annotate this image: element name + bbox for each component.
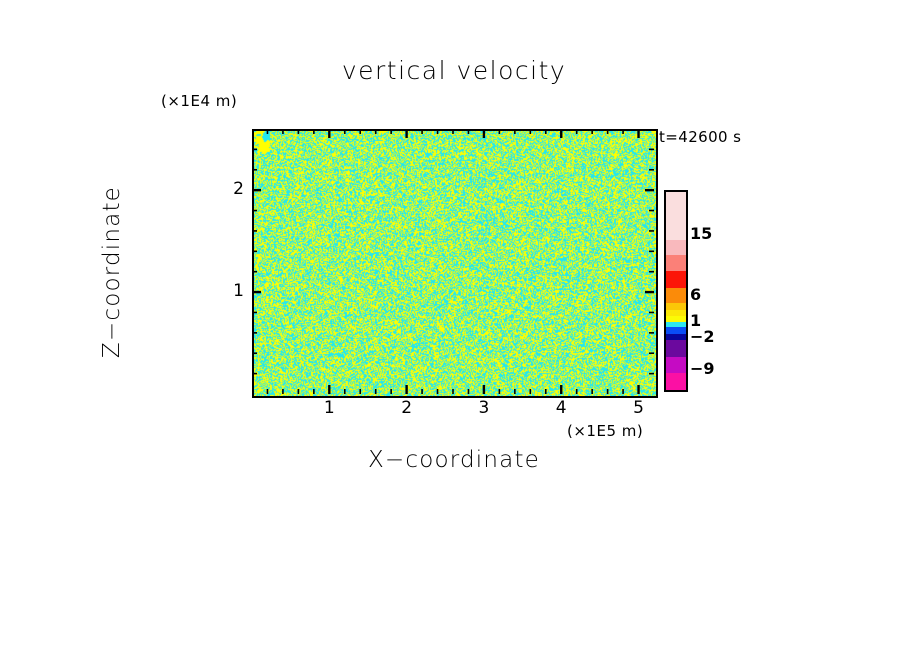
colorbar-tick-label: 6 [690,285,701,304]
colorbar-tick-label: 15 [690,224,712,243]
colorbar-band [666,357,686,373]
colorbar-band [666,240,686,255]
contour-field-canvas [254,131,656,396]
figure-canvas: vertical velocity (×1E4 m) (×1E5 m) X−co… [0,0,904,654]
x-tick-label: 2 [395,398,419,418]
colorbar-band [666,288,686,303]
colorbar [664,190,688,392]
colorbar-band [666,340,686,357]
x-tick-label: 1 [317,398,341,418]
colorbar-band [666,373,686,390]
time-annotation: t=42600 s [659,128,741,146]
colorbar-band [666,192,686,240]
x-axis-units-label: (×1E5 m) [567,422,643,440]
contour-plot-area [252,129,658,398]
page-title: vertical velocity [252,56,656,85]
colorbar-tick-label: −2 [690,327,715,346]
colorbar-tick-label: −9 [690,359,715,378]
y-axis-title: Z−coordinate [99,142,125,402]
x-tick-label: 5 [627,398,651,418]
y-tick-label: 2 [222,179,244,199]
x-tick-label: 4 [549,398,573,418]
x-axis-title: X−coordinate [252,447,656,473]
y-tick-label: 1 [222,281,244,301]
colorbar-band [666,271,686,288]
colorbar-band [666,255,686,270]
x-tick-label: 3 [472,398,496,418]
y-axis-units-label: (×1E4 m) [161,92,237,110]
